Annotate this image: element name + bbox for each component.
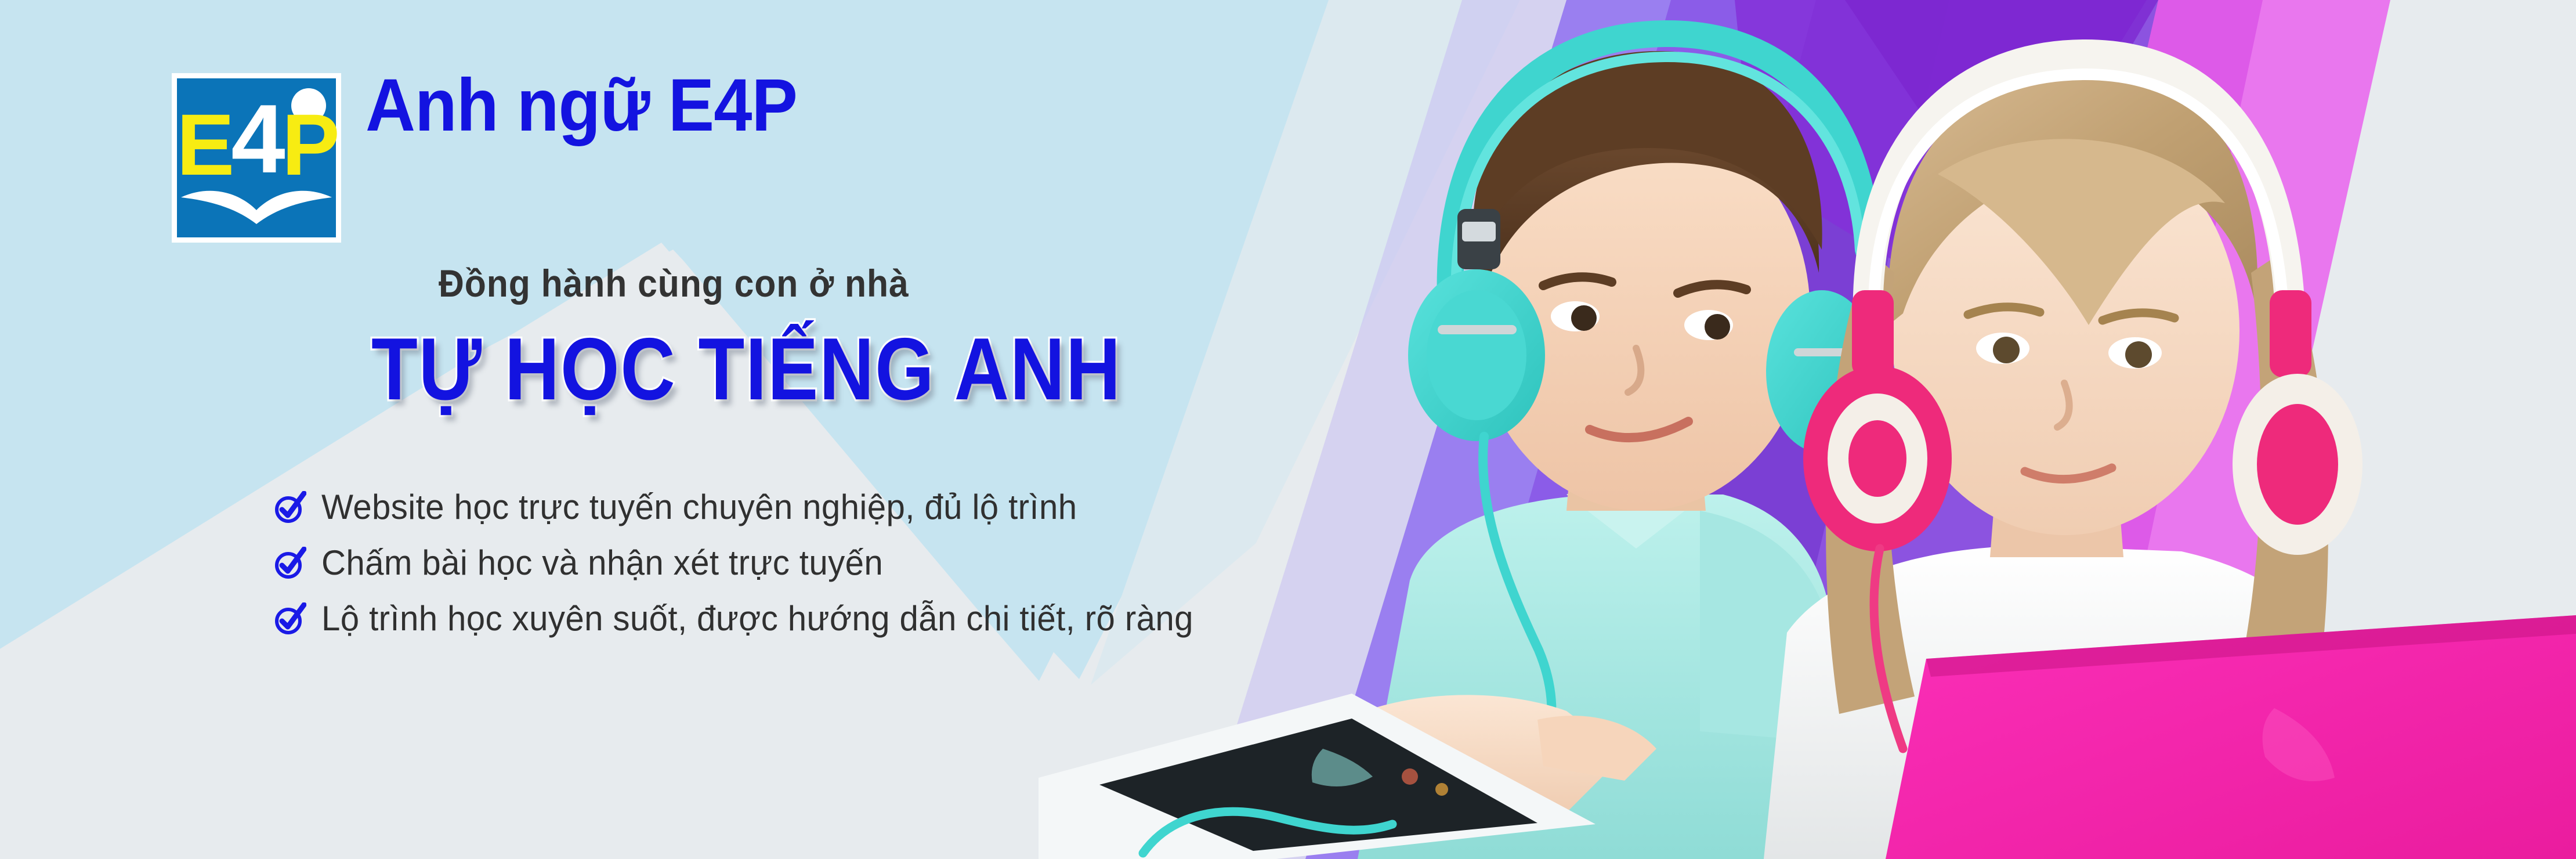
girl-headphone-slider-right (2270, 290, 2311, 377)
list-item: Lộ trình học xuyên suốt, được hướng dẫn … (274, 591, 1220, 647)
feature-label: Lộ trình học xuyên suốt, được hướng dẫn … (321, 600, 1193, 637)
promo-banner: E4P Anh ngữ E4P Đồng hành cùng con ở nhà… (0, 0, 2576, 859)
circled-check-icon (274, 491, 306, 524)
logo-letter-4: 4 (231, 84, 281, 193)
page-title: Anh ngữ E4P (366, 68, 797, 143)
logo-letter-e: E (176, 96, 231, 193)
list-item: Chấm bài học và nhận xét trực tuyến (274, 535, 1220, 591)
logo-letter-p: P (282, 96, 337, 193)
circled-check-icon (274, 602, 306, 635)
feature-label: Website học trực tuyến chuyên nghiệp, đủ… (321, 489, 1077, 526)
list-item: Website học trực tuyến chuyên nghiệp, đủ… (274, 479, 1220, 535)
brand-logo[interactable]: E4P (172, 73, 341, 243)
circled-check-icon (274, 547, 306, 579)
feature-label: Chấm bài học và nhận xét trực tuyến (321, 544, 883, 582)
logo-letters: E4P (172, 98, 341, 188)
girl-headphone-slider-left (1852, 290, 1894, 377)
feature-list: Website học trực tuyến chuyên nghiệp, đủ… (274, 479, 1220, 647)
children-photo (951, 0, 2576, 859)
hero-headline: TỰ HỌC TIẾNG ANH (371, 323, 1121, 416)
hero-subtitle: Đồng hành cùng con ở nhà (439, 262, 909, 304)
bird-wave-icon (180, 180, 333, 225)
